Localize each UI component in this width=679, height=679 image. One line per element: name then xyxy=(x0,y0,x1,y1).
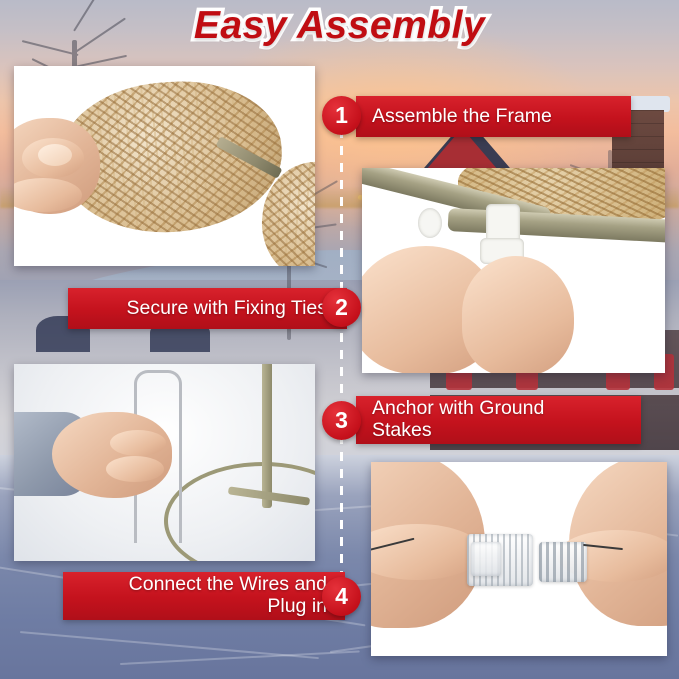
step-banner-4[interactable]: Connect the Wires and Plug in xyxy=(63,572,345,620)
infographic-canvas: Easy Assembly xyxy=(0,0,679,679)
finger-middle xyxy=(106,456,164,482)
hand-holding-stake xyxy=(52,412,172,498)
finger-index xyxy=(110,430,166,456)
wire-connector-female-collar xyxy=(471,542,501,576)
page-title: Easy Assembly xyxy=(0,4,679,48)
photo-ground-stakes xyxy=(14,364,315,561)
dashed-connector-line xyxy=(340,112,343,612)
wire-connector-male xyxy=(539,542,587,582)
step-banner-2[interactable]: Secure with Fixing Ties xyxy=(68,288,347,329)
photo-fixing-ties xyxy=(362,168,665,373)
step-banner-1[interactable]: Assemble the Frame xyxy=(356,96,631,137)
zip-tie-secondary xyxy=(418,208,442,238)
step-label-3: Anchor with Ground Stakes xyxy=(372,398,544,442)
step-badge-2[interactable]: 2 xyxy=(322,288,361,327)
step-label-1: Assemble the Frame xyxy=(372,106,552,128)
step-badge-4[interactable]: 4 xyxy=(322,577,361,616)
frame-leg-vertical xyxy=(262,364,272,508)
step-label-4: Connect the Wires and Plug in xyxy=(129,574,327,618)
step-badge-3[interactable]: 3 xyxy=(322,401,361,440)
thumbnail xyxy=(38,144,72,166)
photo-connect-wires xyxy=(371,462,667,656)
finger-right xyxy=(462,256,574,373)
step-banner-3[interactable]: Anchor with Ground Stakes xyxy=(356,396,641,444)
photo-assemble-frame xyxy=(14,66,315,266)
step-label-2: Secure with Fixing Ties xyxy=(127,298,328,320)
step-badge-1[interactable]: 1 xyxy=(322,96,361,135)
